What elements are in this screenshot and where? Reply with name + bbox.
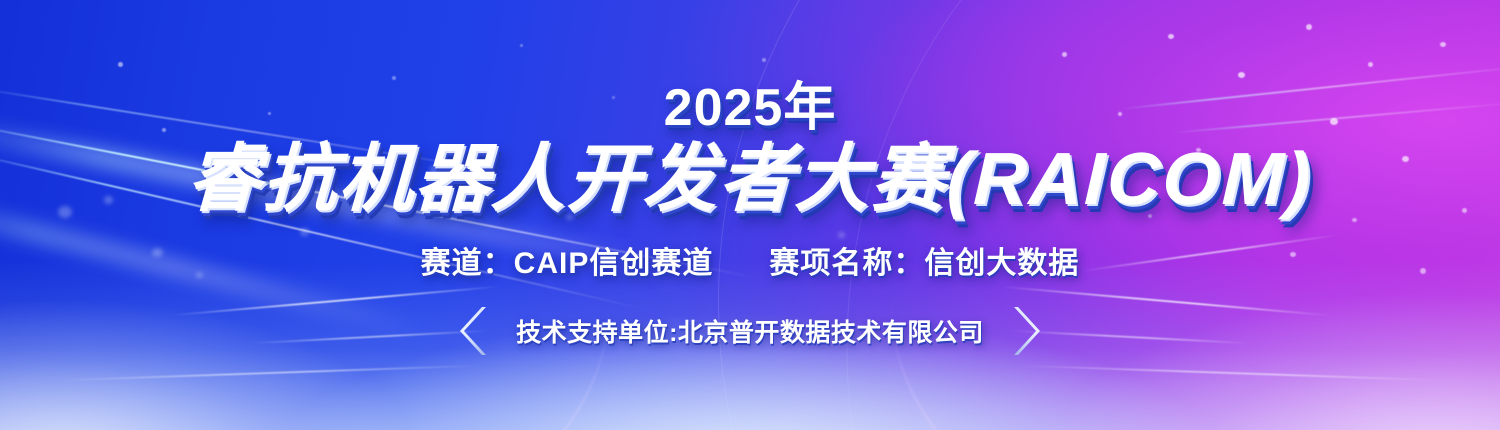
banner-content: 2025年 睿抗机器人开发者大赛(RAICOM) 赛道：CAIP信创赛道 赛项名… [0,0,1500,430]
subtitle-row: 赛道：CAIP信创赛道 赛项名称：信创大数据 [421,238,1080,282]
event-name-label: 赛项名称：信创大数据 [769,238,1079,282]
chevron-right-icon [1010,304,1044,358]
event-banner: 2025年 睿抗机器人开发者大赛(RAICOM) 赛道：CAIP信创赛道 赛项名… [0,0,1500,430]
page-title: 睿抗机器人开发者大赛(RAICOM) [186,140,1314,218]
support-unit-text: 技术支持单位:北京普开数据技术有限公司 [516,313,984,349]
support-row: 技术支持单位:北京普开数据技术有限公司 [456,304,1044,358]
track-label: 赛道：CAIP信创赛道 [421,238,714,282]
event-year: 2025年 [664,82,837,134]
chevron-left-icon [456,304,490,358]
